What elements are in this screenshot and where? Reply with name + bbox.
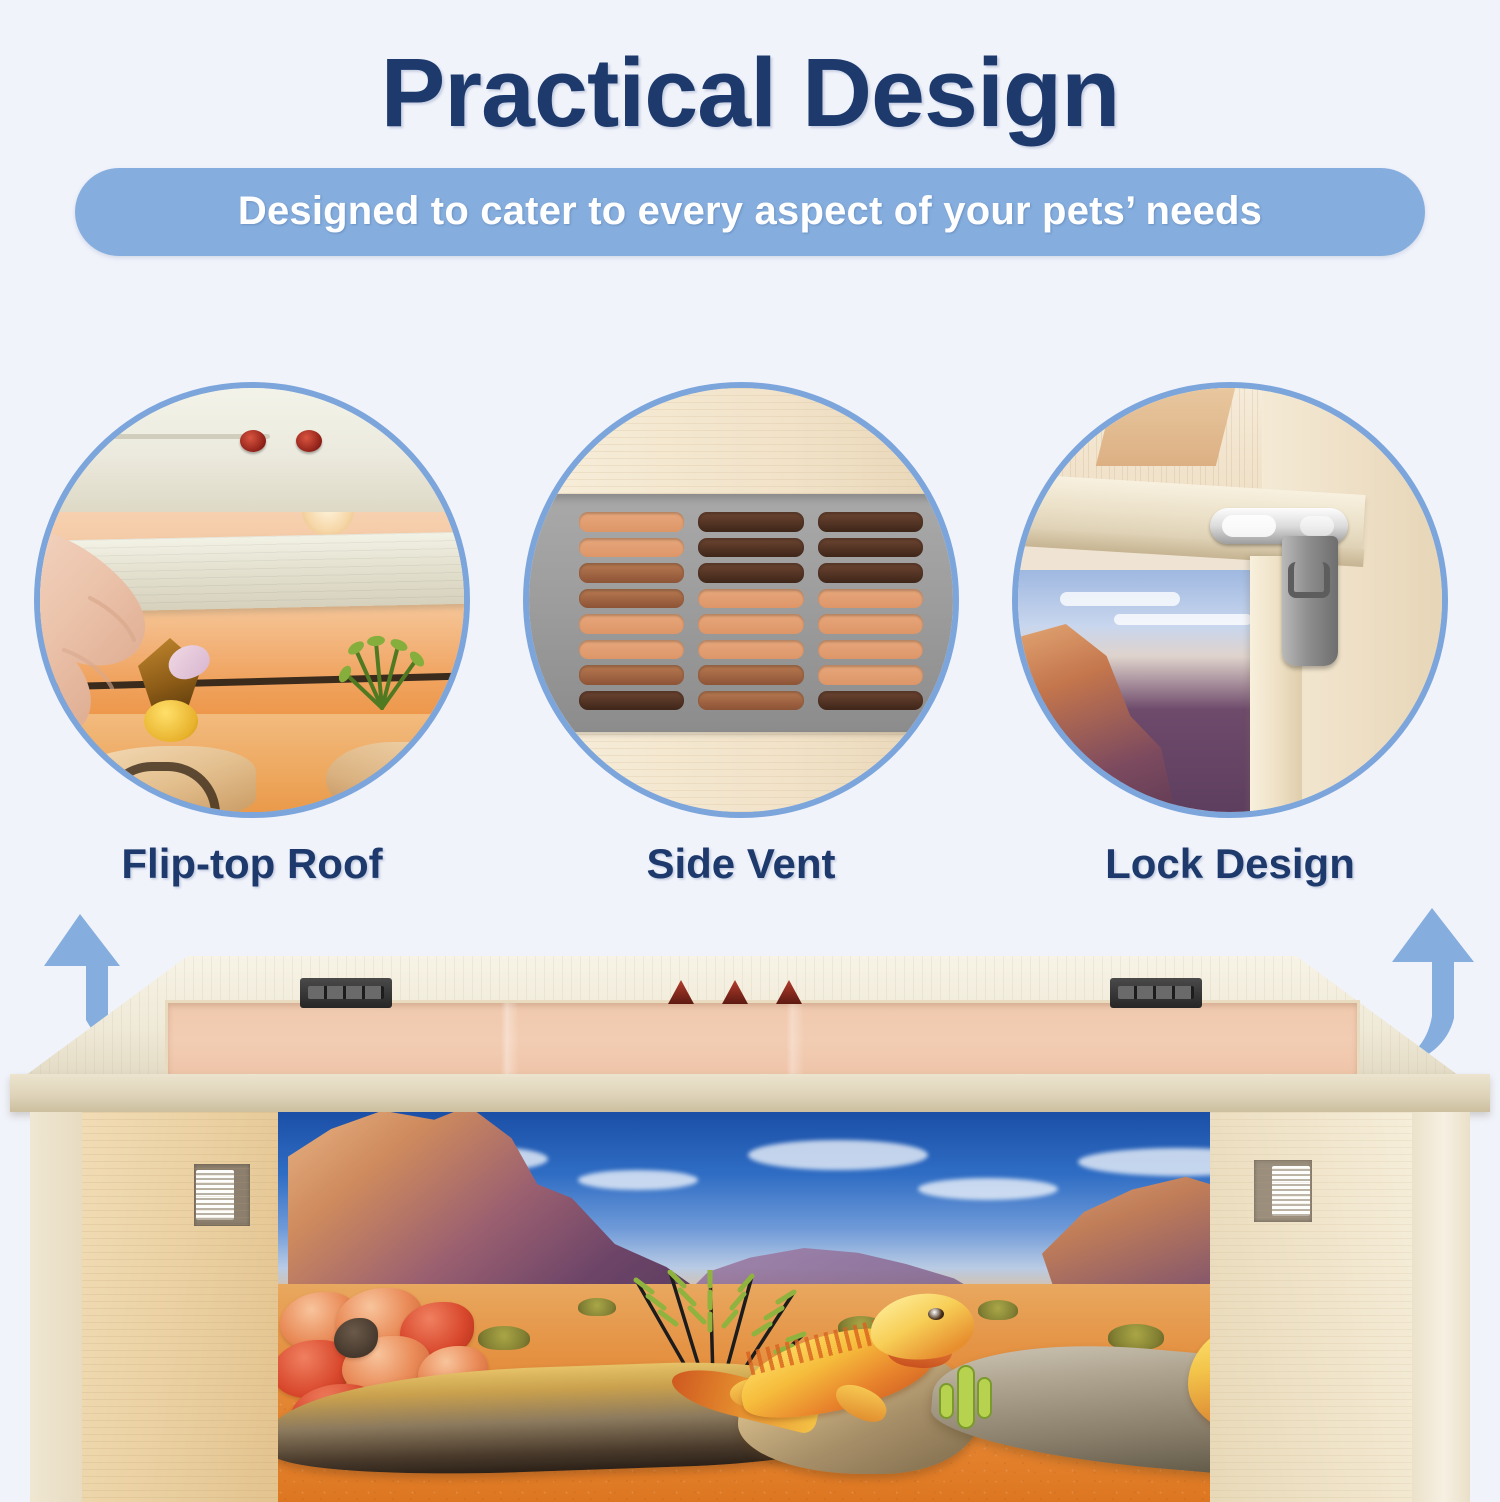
feature-photo-circle-flip-top-roof bbox=[34, 382, 470, 818]
cable-port-icon bbox=[296, 430, 322, 452]
feature-flip-top-roof[interactable]: Flip-top Roof bbox=[22, 382, 482, 888]
feature-label-lock-design: Lock Design bbox=[1000, 840, 1460, 888]
feature-callout-row: Flip-top Roof Side Vent bbox=[0, 382, 1500, 922]
vent-slot bbox=[579, 512, 684, 532]
vent-slot bbox=[698, 691, 803, 711]
vent-slot bbox=[818, 563, 923, 583]
vent-slot bbox=[698, 640, 803, 660]
feature-label-flip-top-roof: Flip-top Roof bbox=[22, 840, 482, 888]
vent-slot bbox=[698, 589, 803, 609]
vent-slot bbox=[818, 665, 923, 685]
vent-slot bbox=[579, 589, 684, 609]
subtitle-text: Designed to cater to every aspect of you… bbox=[238, 189, 1262, 234]
hinge-icon bbox=[300, 978, 392, 1008]
subtitle-banner: Designed to cater to every aspect of you… bbox=[75, 168, 1425, 256]
vent-slot bbox=[698, 512, 803, 532]
vent-slot bbox=[579, 640, 684, 660]
vent-slot bbox=[579, 538, 684, 558]
feature-photo-circle-side-vent bbox=[523, 382, 959, 818]
left-outer-wall bbox=[30, 1112, 82, 1502]
vent-slot bbox=[818, 512, 923, 532]
vent-slot bbox=[579, 563, 684, 583]
terrarium-body bbox=[30, 1112, 1470, 1502]
side-vent-left bbox=[194, 1164, 250, 1226]
vent-slot bbox=[818, 691, 923, 711]
hand-icon bbox=[34, 500, 244, 818]
vent-slot bbox=[698, 563, 803, 583]
vent-slot bbox=[818, 640, 923, 660]
cable-port-icon bbox=[240, 430, 266, 452]
vent-slot bbox=[818, 589, 923, 609]
latch-lock-icon bbox=[1018, 388, 1442, 812]
cactus-icon bbox=[936, 1358, 994, 1430]
vent-slot-grid bbox=[579, 512, 923, 710]
left-interior-panel bbox=[82, 1112, 278, 1502]
bearded-dragon bbox=[674, 1260, 1034, 1490]
feature-lock-design[interactable]: Lock Design bbox=[1000, 382, 1460, 888]
lock-latch[interactable] bbox=[1210, 508, 1352, 668]
vent-slot bbox=[579, 614, 684, 634]
vent-slot bbox=[818, 538, 923, 558]
vent-slot bbox=[818, 614, 923, 634]
vent-slot bbox=[579, 691, 684, 711]
page-title: Practical Design bbox=[0, 42, 1500, 144]
desert-scrub bbox=[578, 1298, 616, 1316]
vent-slot bbox=[579, 665, 684, 685]
hand-lifting-lid-icon bbox=[40, 388, 464, 812]
lid-rim bbox=[10, 1074, 1490, 1112]
cloud bbox=[578, 1170, 698, 1190]
product-photo-terrarium bbox=[0, 948, 1500, 1500]
cloud bbox=[748, 1140, 928, 1170]
vent-slot bbox=[698, 614, 803, 634]
hinge-icon bbox=[1110, 978, 1202, 1008]
eye-icon bbox=[928, 1308, 944, 1320]
vent-slot bbox=[698, 665, 803, 685]
vent-slot bbox=[698, 538, 803, 558]
plant-icon bbox=[336, 634, 428, 710]
cloud bbox=[918, 1178, 1058, 1200]
right-outer-wall bbox=[1412, 1112, 1470, 1502]
vent-grille-icon bbox=[1272, 1166, 1310, 1216]
header: Practical Design Designed to cater to ev… bbox=[0, 0, 1500, 256]
feature-photo-circle-lock-design bbox=[1012, 382, 1448, 818]
feature-label-side-vent: Side Vent bbox=[511, 840, 971, 888]
side-vent-right bbox=[1254, 1160, 1312, 1222]
vent-grille-icon bbox=[529, 388, 953, 812]
right-interior-panel bbox=[1210, 1112, 1412, 1502]
vent-grille-icon bbox=[196, 1170, 234, 1220]
feature-side-vent[interactable]: Side Vent bbox=[511, 382, 971, 888]
